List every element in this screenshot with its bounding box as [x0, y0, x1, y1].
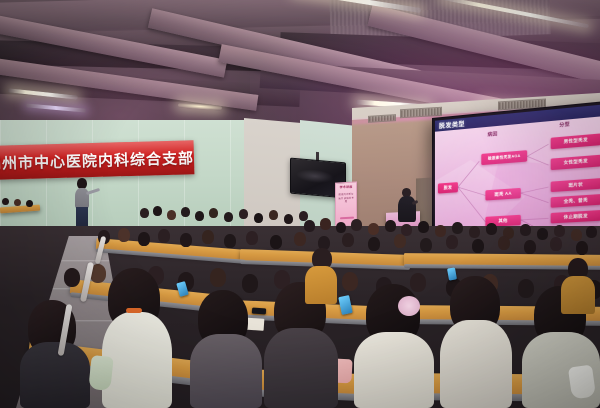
head — [26, 200, 33, 207]
head — [254, 213, 263, 223]
hanging-mask — [568, 364, 596, 399]
slide-node-root: 脱发 — [438, 182, 458, 193]
audience-member — [304, 248, 338, 304]
torso — [264, 328, 338, 408]
head — [167, 210, 176, 220]
poster-body: 脱发的诊断与治疗 皮肤科专题 — [338, 192, 354, 204]
head — [246, 231, 258, 245]
torso — [20, 342, 90, 408]
foreground-attendee — [350, 284, 436, 408]
head — [472, 239, 484, 253]
head — [138, 232, 150, 246]
head — [153, 206, 162, 216]
head — [269, 210, 278, 220]
head — [550, 237, 562, 251]
head — [342, 233, 354, 247]
head — [239, 209, 248, 219]
head — [576, 241, 588, 255]
head — [64, 268, 80, 287]
torso — [440, 320, 512, 408]
head — [524, 240, 536, 254]
head — [158, 229, 170, 243]
head — [118, 228, 130, 242]
head — [224, 234, 236, 248]
hair-tie — [126, 308, 142, 313]
head — [195, 211, 204, 221]
ceiling-light — [26, 103, 86, 112]
head — [224, 212, 233, 222]
head — [180, 233, 192, 247]
head — [498, 236, 510, 250]
audience-member — [26, 200, 34, 210]
head — [299, 211, 308, 221]
torso — [561, 276, 595, 314]
head — [420, 238, 432, 252]
head — [394, 234, 406, 248]
head — [210, 268, 226, 287]
foreground-attendee — [20, 300, 94, 408]
poster-title: 学术讲座 — [338, 186, 354, 191]
head — [2, 198, 9, 205]
foreground-attendee — [440, 276, 514, 408]
head — [368, 237, 380, 251]
flower-hair-clip — [398, 296, 420, 316]
head — [181, 207, 190, 217]
head — [270, 235, 282, 249]
head — [14, 199, 21, 206]
head — [209, 208, 218, 218]
head — [284, 214, 293, 224]
audience-member — [14, 199, 22, 209]
banner-text: 荆州市中心医院内科综合支部 — [0, 147, 194, 174]
head — [294, 232, 306, 246]
head — [140, 208, 149, 218]
head — [446, 235, 458, 249]
audience-member — [560, 258, 596, 314]
torso — [305, 266, 337, 304]
audience-member — [2, 198, 10, 208]
head — [202, 230, 214, 244]
torso — [190, 334, 262, 408]
audience-row — [96, 224, 600, 254]
foreground-attendee — [188, 290, 264, 408]
torso — [354, 332, 434, 408]
red-banner: 荆州市中心医院内科综合支部 — [0, 140, 194, 180]
lecture-hall-photo: 荆州市中心医院内科综合支部 学术讲座 脱发的诊断与治疗 皮肤科专题 脱发类型 病… — [0, 0, 600, 408]
